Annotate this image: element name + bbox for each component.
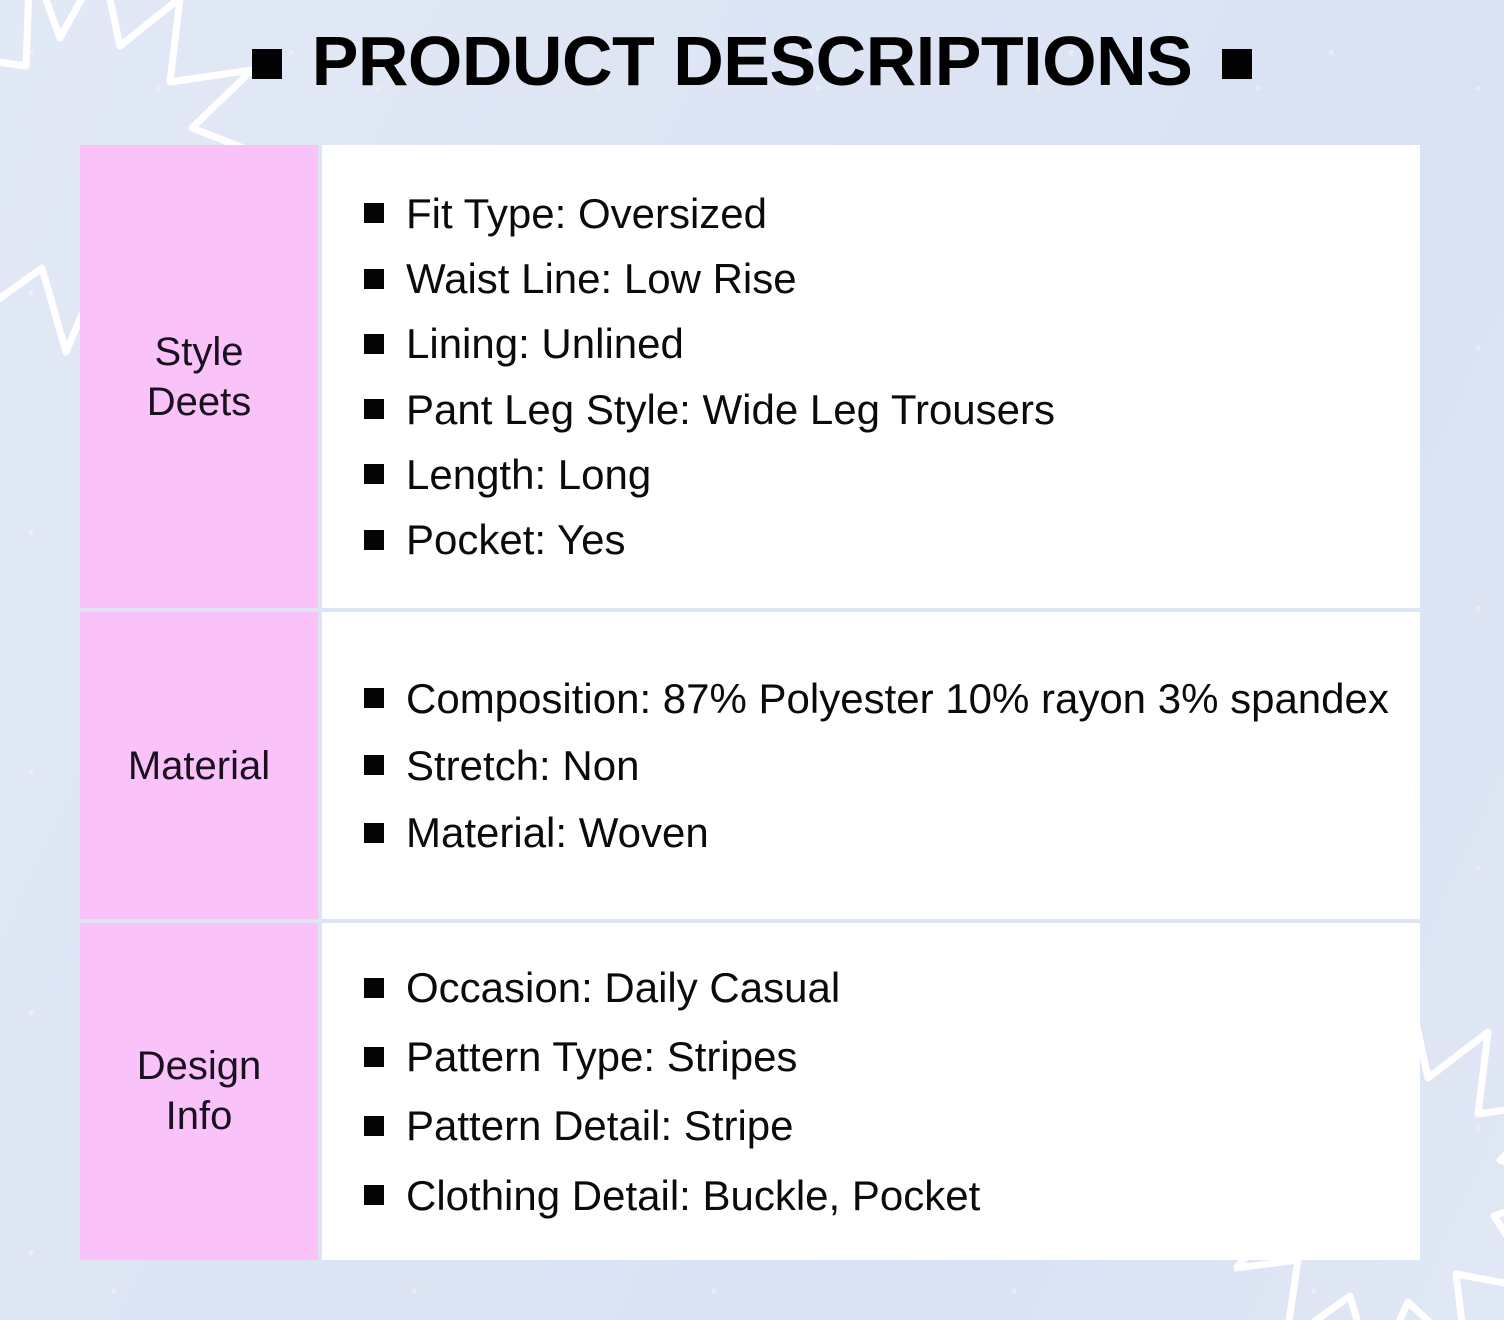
page-header: PRODUCT DESCRIPTIONS bbox=[0, 26, 1504, 96]
square-bullet-icon bbox=[364, 203, 384, 223]
list-item: Pattern Detail: Stripe bbox=[364, 1091, 1390, 1160]
row-label-style-deets: Style Deets bbox=[80, 145, 318, 608]
list-item: Length: Long bbox=[364, 442, 1390, 507]
list-item-text: Composition: 87% Polyester 10% rayon 3% … bbox=[406, 673, 1389, 724]
row-label-line: Info bbox=[166, 1094, 233, 1138]
list-item: Pocket: Yes bbox=[364, 507, 1390, 572]
list-item-text: Pocket: Yes bbox=[406, 514, 626, 565]
list-item-text: Waist Line: Low Rise bbox=[406, 253, 797, 304]
list-item-text: Stretch: Non bbox=[406, 740, 639, 791]
square-bullet-icon bbox=[364, 688, 384, 708]
row-label-material: Material bbox=[80, 612, 318, 919]
square-bullet-icon bbox=[364, 334, 384, 354]
list-item: Lining: Unlined bbox=[364, 311, 1390, 376]
list-item: Waist Line: Low Rise bbox=[364, 246, 1390, 311]
list-item: Material: Woven bbox=[364, 799, 1390, 866]
list-item: Pant Leg Style: Wide Leg Trousers bbox=[364, 377, 1390, 442]
row-content-design-info: Occasion: Daily Casual Pattern Type: Str… bbox=[322, 923, 1420, 1260]
square-bullet-icon bbox=[364, 464, 384, 484]
list-item-text: Occasion: Daily Casual bbox=[406, 962, 840, 1013]
list-item-text: Pattern Detail: Stripe bbox=[406, 1100, 794, 1151]
table-row: Design Info Occasion: Daily Casual Patte… bbox=[80, 923, 1420, 1260]
list-item-text: Pant Leg Style: Wide Leg Trousers bbox=[406, 384, 1055, 435]
square-bullet-icon bbox=[364, 823, 384, 843]
table-row: Style Deets Fit Type: Oversized Waist Li… bbox=[80, 145, 1420, 612]
square-bullet-icon bbox=[364, 1116, 384, 1136]
square-bullet-icon bbox=[364, 1047, 384, 1067]
list-item: Stretch: Non bbox=[364, 732, 1390, 799]
square-bullet-icon bbox=[364, 978, 384, 998]
row-content-material: Composition: 87% Polyester 10% rayon 3% … bbox=[322, 612, 1420, 919]
list-item-text: Pattern Type: Stripes bbox=[406, 1031, 797, 1082]
row-content-style-deets: Fit Type: Oversized Waist Line: Low Rise… bbox=[322, 145, 1420, 608]
square-bullet-icon bbox=[364, 530, 384, 550]
list-item-text: Clothing Detail: Buckle, Pocket bbox=[406, 1170, 980, 1221]
list-item-text: Lining: Unlined bbox=[406, 318, 684, 369]
row-label-design-info: Design Info bbox=[80, 923, 318, 1260]
row-label-line: Style bbox=[155, 330, 244, 374]
square-bullet-icon bbox=[364, 269, 384, 289]
page-title: PRODUCT DESCRIPTIONS bbox=[312, 26, 1193, 96]
square-bullet-icon bbox=[364, 755, 384, 775]
list-item: Occasion: Daily Casual bbox=[364, 953, 1390, 1022]
product-description-table: Style Deets Fit Type: Oversized Waist Li… bbox=[80, 145, 1420, 1242]
list-item: Fit Type: Oversized bbox=[364, 181, 1390, 246]
list-item-text: Material: Woven bbox=[406, 807, 709, 858]
list-item-text: Fit Type: Oversized bbox=[406, 188, 767, 239]
square-bullet-icon bbox=[364, 1185, 384, 1205]
title-square-right-icon bbox=[1222, 49, 1252, 79]
row-label-line: Material bbox=[128, 741, 270, 791]
list-item: Clothing Detail: Buckle, Pocket bbox=[364, 1161, 1390, 1230]
product-description-page: PRODUCT DESCRIPTIONS Style Deets Fit Typ… bbox=[0, 0, 1504, 1320]
list-item-text: Length: Long bbox=[406, 449, 651, 500]
row-label-line: Design bbox=[137, 1044, 262, 1088]
table-row: Material Composition: 87% Polyester 10% … bbox=[80, 612, 1420, 923]
row-label-line: Deets bbox=[147, 380, 252, 424]
list-item: Composition: 87% Polyester 10% rayon 3% … bbox=[364, 665, 1390, 732]
title-square-left-icon bbox=[252, 49, 282, 79]
list-item: Pattern Type: Stripes bbox=[364, 1022, 1390, 1091]
square-bullet-icon bbox=[364, 399, 384, 419]
